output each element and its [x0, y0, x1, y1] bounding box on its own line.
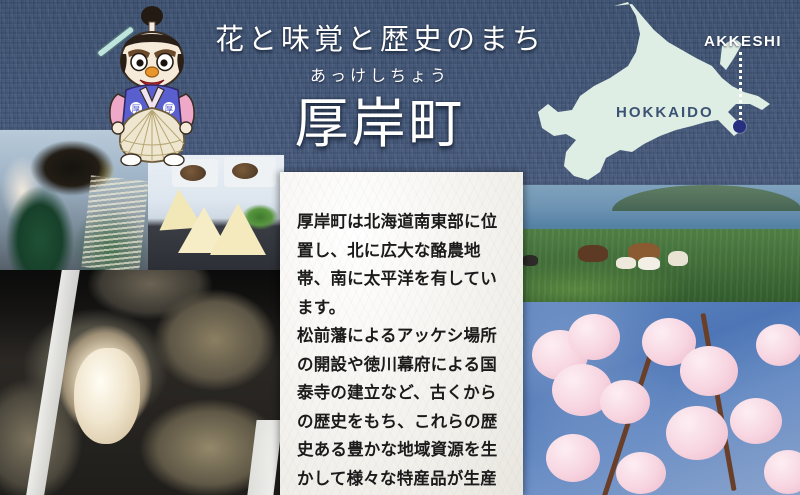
cheese-package-label — [224, 157, 276, 187]
branch — [700, 313, 736, 491]
mascot-hand — [180, 122, 192, 134]
blossom — [764, 450, 800, 494]
mascot-nose — [146, 67, 159, 77]
photo-coastal-pasture — [516, 185, 800, 302]
oyster-meat — [74, 348, 140, 444]
grazing-animal — [638, 257, 660, 270]
town-name: 厚岸町 — [200, 97, 560, 151]
description-paragraph-1: 厚岸町は北海道南東部に位置し、北に広大な酪農地帯、南に太平洋を有しています。 — [297, 208, 507, 322]
hokkaido-map-svg — [536, 0, 800, 185]
blossom — [568, 314, 620, 360]
mascot-foot — [121, 154, 141, 166]
tray-edge — [247, 420, 282, 495]
photo-cherry-blossoms — [516, 302, 800, 495]
blossom — [616, 452, 666, 494]
mascot-hand — [112, 122, 124, 134]
banner-canvas: 花と味覚と歴史のまち あっけしちょう 厚岸町 HOKKAIDO AKKESHI … — [0, 0, 800, 495]
map-leader-line — [739, 52, 742, 124]
header-text-group: 花と味覚と歴史のまち あっけしちょう 厚岸町 — [200, 0, 560, 151]
akkeshi-mascot: 厚 厚 — [96, 4, 208, 166]
map-label-akkeshi: AKKESHI — [704, 33, 782, 50]
tagline: 花と味覚と歴史のまち — [200, 26, 560, 55]
town-name-reading: あっけしちょう — [200, 69, 560, 85]
blossom — [680, 346, 738, 396]
distant-headland — [612, 185, 800, 211]
grazing-animal — [616, 257, 636, 269]
photo-oysters — [0, 270, 284, 495]
grazing-animal — [522, 255, 538, 266]
hokkaido-map: HOKKAIDO AKKESHI — [536, 0, 800, 185]
photo-cheese-wedges — [148, 155, 284, 270]
blossom — [600, 380, 650, 424]
description-panel: 厚岸町は北海道南東部に位置し、北に広大な酪農地帯、南に太平洋を有しています。 松… — [280, 172, 523, 495]
blossom — [730, 398, 782, 444]
map-label-hokkaido: HOKKAIDO — [616, 104, 714, 121]
blossom — [546, 434, 600, 482]
grazing-animal — [578, 245, 608, 262]
description-paragraph-2: 松前藩によるアッケシ場所の開設や徳川幕府による国泰寺の建立など、古くからの歴史を… — [297, 322, 507, 495]
mascot-svg: 厚 厚 — [96, 4, 208, 166]
cheese-wedge — [210, 203, 266, 255]
map-city-dot — [733, 120, 746, 133]
hokkaido-landmass-shape — [538, 2, 770, 180]
tray-edge — [26, 270, 80, 495]
grazing-animal — [668, 251, 688, 266]
blossom — [756, 324, 800, 366]
mascot-foot — [164, 154, 184, 166]
blossom — [666, 406, 728, 460]
